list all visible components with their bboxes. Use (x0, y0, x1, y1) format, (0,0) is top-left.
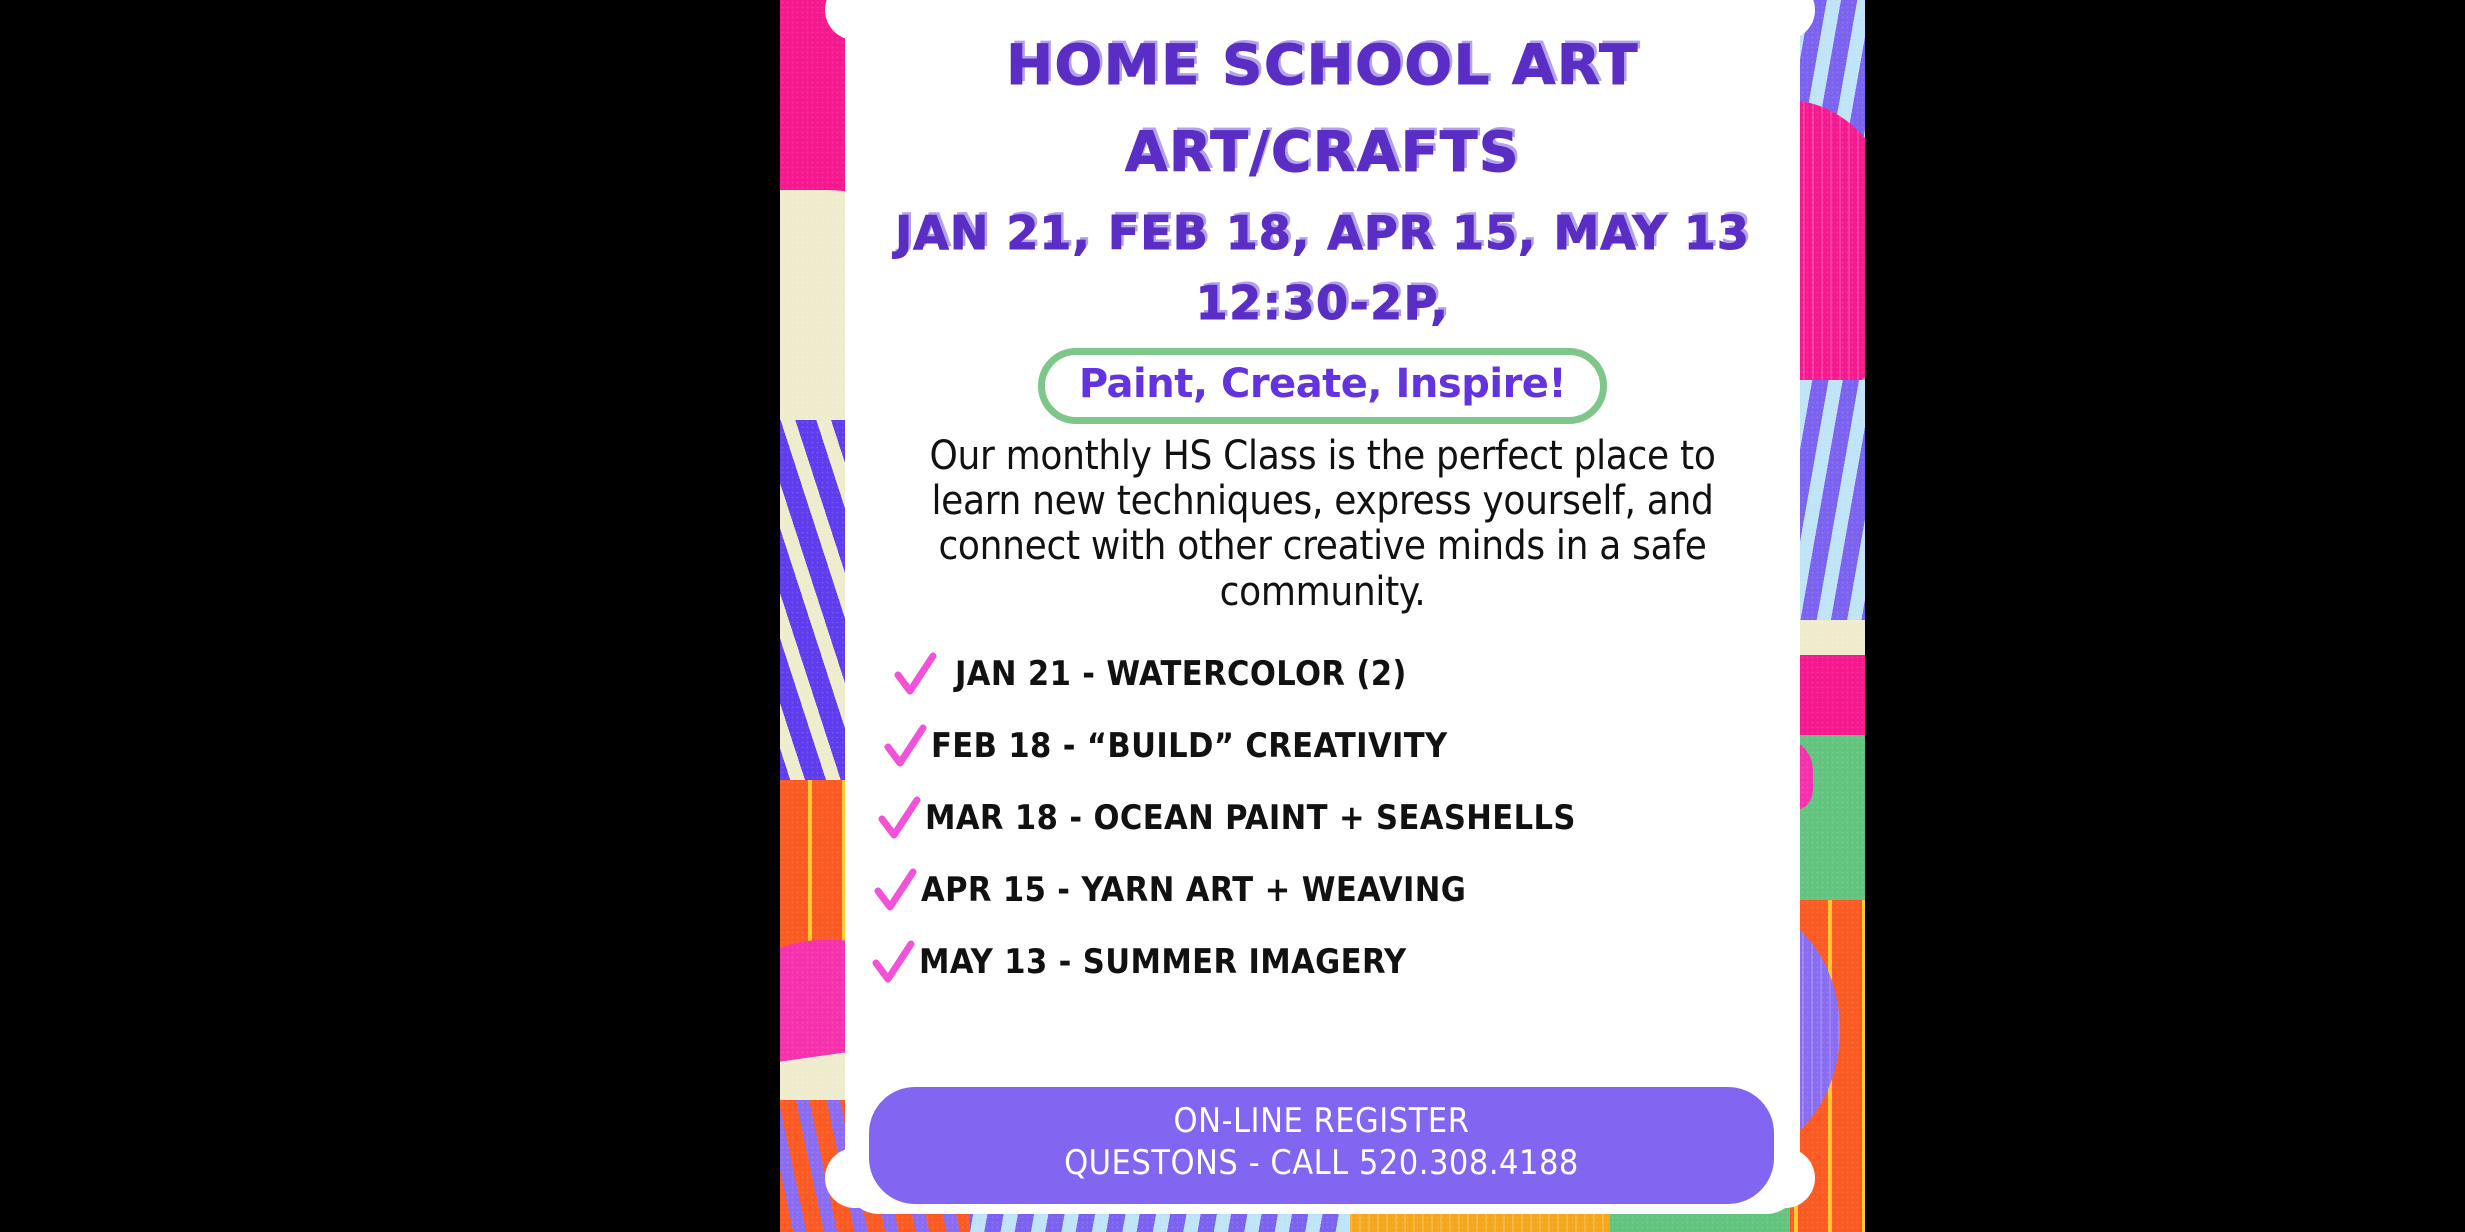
poster: HOME SCHOOL ART ART/CRAFTS JAN 21, FEB 1… (780, 0, 1865, 1232)
tagline-text: Paint, Create, Inspire! (1079, 361, 1566, 407)
tagline-pill: Paint, Create, Inspire! (1038, 348, 1607, 424)
cta-line-1: ON-LINE REGISTER (869, 1101, 1774, 1142)
register-button[interactable]: ON-LINE REGISTER QUESTONS - CALL 520.308… (869, 1087, 1774, 1204)
time-line: 12:30-2P, (845, 280, 1800, 326)
subtitle: ART/CRAFTS (845, 125, 1800, 180)
letterbox-right (1865, 0, 2465, 1232)
check-icon (877, 795, 921, 841)
page-title: HOME SCHOOL ART (835, 38, 1809, 93)
check-icon (893, 651, 937, 697)
list-item: JAN 21 - WATERCOLOR (2) (867, 651, 1800, 697)
list-item-label: JAN 21 - WATERCOLOR (2) (955, 654, 1407, 694)
list-item: APR 15 - YARN ART + WEAVING (867, 867, 1800, 913)
check-icon (883, 723, 927, 769)
screenshot-canvas: HOME SCHOOL ART ART/CRAFTS JAN 21, FEB 1… (0, 0, 2465, 1232)
list-item: FEB 18 - “BUILD” CREATIVITY (867, 723, 1800, 769)
schedule-list: JAN 21 - WATERCOLOR (2)FEB 18 - “BUILD” … (845, 651, 1800, 985)
cta-line-2: QUESTONS - CALL 520.308.4188 (869, 1143, 1774, 1184)
list-item-label: MAR 18 - OCEAN PAINT + SEASHELLS (925, 798, 1576, 838)
check-icon (871, 939, 915, 985)
list-item-label: MAY 13 - SUMMER IMAGERY (919, 942, 1407, 982)
poster-content: HOME SCHOOL ART ART/CRAFTS JAN 21, FEB 1… (845, 0, 1800, 1232)
body-paragraph: Our monthly HS Class is the perfect plac… (883, 434, 1763, 615)
list-item: MAR 18 - OCEAN PAINT + SEASHELLS (867, 795, 1800, 841)
letterbox-left (0, 0, 780, 1232)
list-item: MAY 13 - SUMMER IMAGERY (867, 939, 1800, 985)
list-item-label: FEB 18 - “BUILD” CREATIVITY (931, 726, 1448, 766)
check-icon (873, 867, 917, 913)
tagline-row: Paint, Create, Inspire! (845, 348, 1800, 424)
list-item-label: APR 15 - YARN ART + WEAVING (921, 870, 1466, 910)
dates-line: JAN 21, FEB 18, APR 15, MAY 13 (845, 210, 1800, 256)
